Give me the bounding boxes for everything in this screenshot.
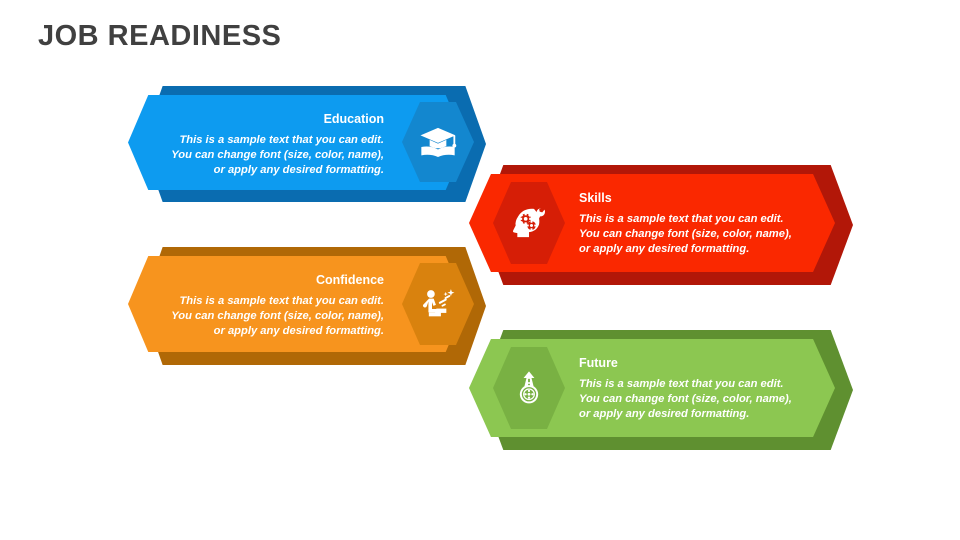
banner-skills[interactable]: Skills This is a sample text that you ca… <box>469 165 853 287</box>
banner-future[interactable]: Future This is a sample text that you ca… <box>469 330 853 452</box>
banner-confidence-title: Confidence <box>158 273 384 287</box>
banner-future-title: Future <box>579 356 809 370</box>
banner-skills-text: This is a sample text that you can edit.… <box>579 212 825 258</box>
head-gears-wrench-icon <box>509 203 549 243</box>
banner-education-text: This is a sample text that you can edit.… <box>148 133 384 179</box>
banner-education-title: Education <box>158 112 384 126</box>
road-compass-icon <box>509 368 549 408</box>
banner-education[interactable]: Education This is a sample text that you… <box>128 86 486 204</box>
banner-confidence[interactable]: Confidence This is a sample text that yo… <box>128 247 486 367</box>
banner-future-text: This is a sample text that you can edit.… <box>579 377 825 423</box>
slide-canvas: JOB READINESS Education This is a sample… <box>0 0 960 540</box>
graduation-cap-book-icon <box>418 122 458 162</box>
page-title: JOB READINESS <box>38 20 281 53</box>
person-climbing-stairs-icon <box>418 284 458 324</box>
banner-skills-title: Skills <box>579 191 809 205</box>
banner-confidence-text: This is a sample text that you can edit.… <box>148 294 384 340</box>
